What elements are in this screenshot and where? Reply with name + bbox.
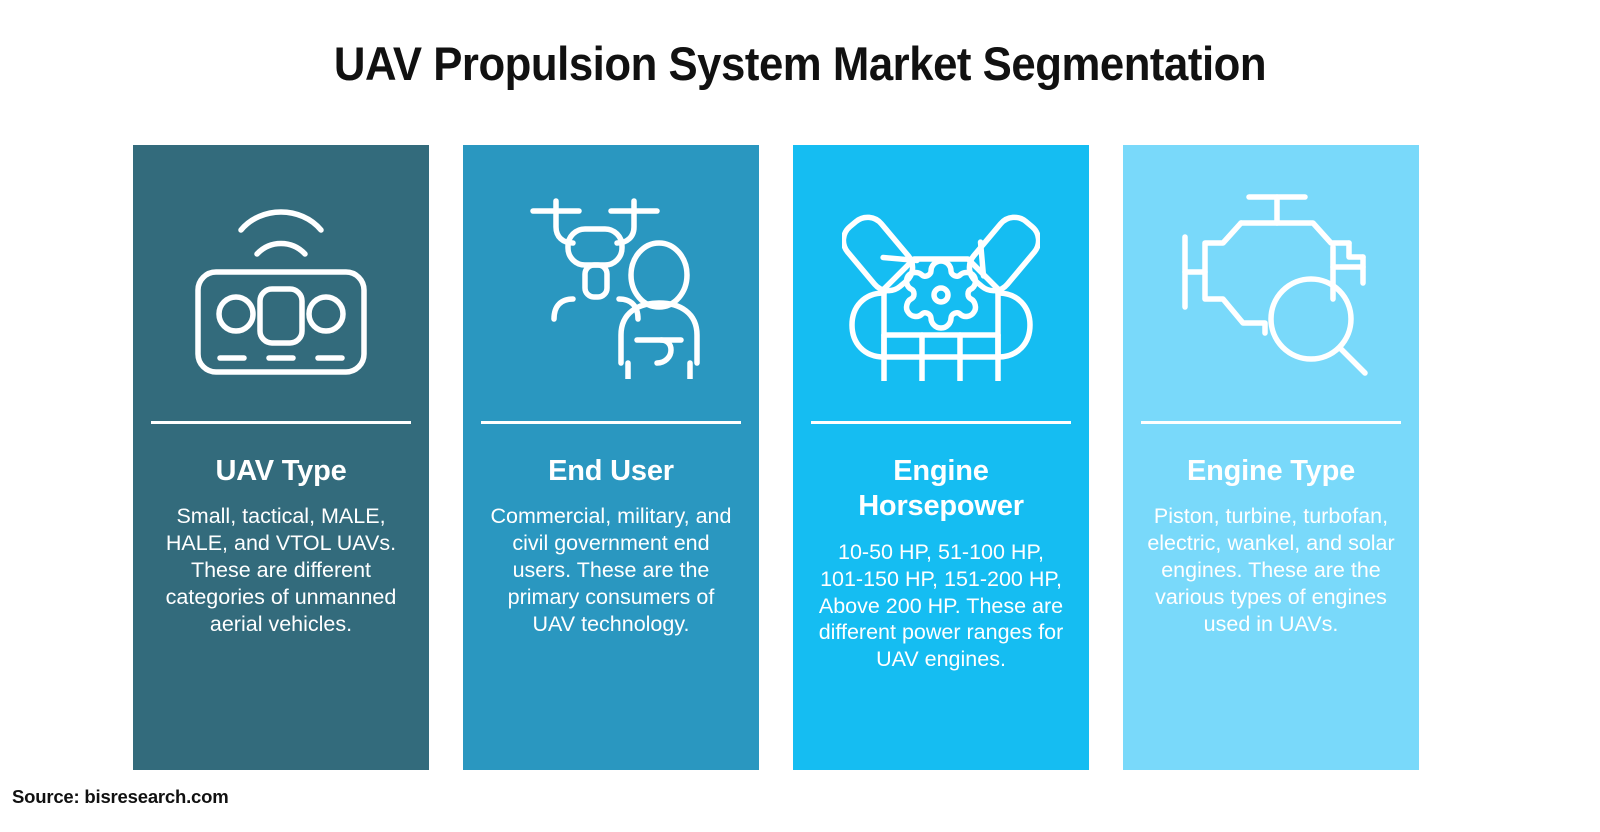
card-divider — [811, 421, 1071, 424]
page-title: UAV Propulsion System Market Segmentatio… — [56, 36, 1544, 91]
card-heading: Engine Type — [1146, 454, 1396, 489]
card-body-text: Piston, turbine, turbofan, electric, wan… — [1146, 503, 1396, 637]
card-icon-area — [793, 145, 1089, 421]
card-body-text: Commercial, military, and civil governme… — [486, 503, 736, 637]
v-engine-piston-gear-icon — [842, 185, 1040, 381]
card-body-text: 10-50 HP, 51-100 HP, 101-150 HP, 151-200… — [816, 539, 1066, 673]
uav-remote-controller-icon — [183, 188, 379, 378]
card-icon-area — [133, 145, 429, 421]
card-divider — [1141, 421, 1401, 424]
card-icon-area — [463, 145, 759, 421]
card-heading: End User — [486, 454, 736, 489]
card-heading: UAV Type — [156, 454, 406, 489]
infographic-page: UAV Propulsion System Market Segmentatio… — [0, 0, 1600, 832]
card-divider — [151, 421, 411, 424]
source-attribution: Source: bisresearch.com — [12, 786, 228, 808]
card-heading: Engine Horsepower — [816, 454, 1066, 525]
card-body-text: Small, tactical, MALE, HALE, and VTOL UA… — [156, 503, 406, 637]
segmentation-card-uav-type[interactable]: UAV Type Small, tactical, MALE, HALE, an… — [133, 145, 429, 770]
drone-and-operator-icon — [511, 187, 711, 379]
engine-block-magnifier-icon — [1173, 187, 1369, 379]
segmentation-card-engine-type[interactable]: Engine Type Piston, turbine, turbofan, e… — [1123, 145, 1419, 770]
segmentation-card-engine-horsepower[interactable]: Engine Horsepower 10-50 HP, 51-100 HP, 1… — [793, 145, 1089, 770]
segmentation-card-row: UAV Type Small, tactical, MALE, HALE, an… — [133, 145, 1419, 770]
segmentation-card-end-user[interactable]: End User Commercial, military, and civil… — [463, 145, 759, 770]
card-divider — [481, 421, 741, 424]
card-icon-area — [1123, 145, 1419, 421]
